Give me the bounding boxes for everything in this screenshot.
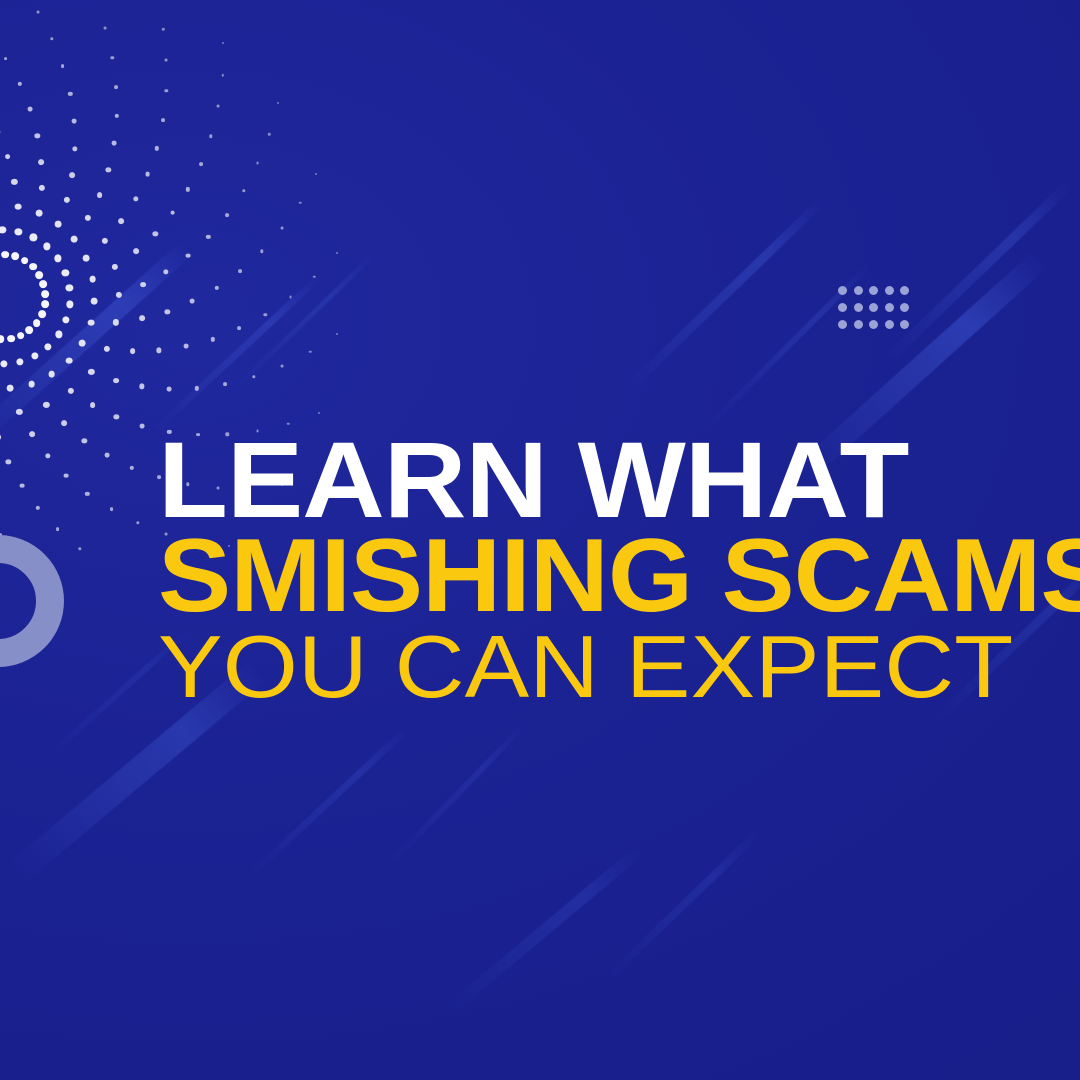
grid-dot xyxy=(869,303,878,312)
grid-dot xyxy=(900,320,909,329)
grid-dot xyxy=(854,286,863,295)
headline-line-1: LEARN WHAT xyxy=(158,432,1006,528)
headline-block: LEARN WHAT SMISHING SCAMS YOU CAN EXPECT xyxy=(158,432,958,709)
grid-dot xyxy=(885,303,894,312)
grid-dot xyxy=(885,286,894,295)
grid-dot xyxy=(900,303,909,312)
grid-dot xyxy=(854,303,863,312)
grid-dot xyxy=(869,320,878,329)
headline-line-3: YOU CAN EXPECT xyxy=(158,625,1038,709)
poster-canvas: LEARN WHAT SMISHING SCAMS YOU CAN EXPECT xyxy=(0,0,1080,1080)
grid-dot xyxy=(900,286,909,295)
grid-dot xyxy=(854,320,863,329)
dot-grid-icon xyxy=(838,286,916,337)
headline-line-2: SMISHING SCAMS xyxy=(158,528,1002,625)
grid-dot xyxy=(838,303,847,312)
grid-dot xyxy=(838,320,847,329)
grid-dot xyxy=(838,286,847,295)
grid-dot xyxy=(885,320,894,329)
grid-dot xyxy=(869,286,878,295)
